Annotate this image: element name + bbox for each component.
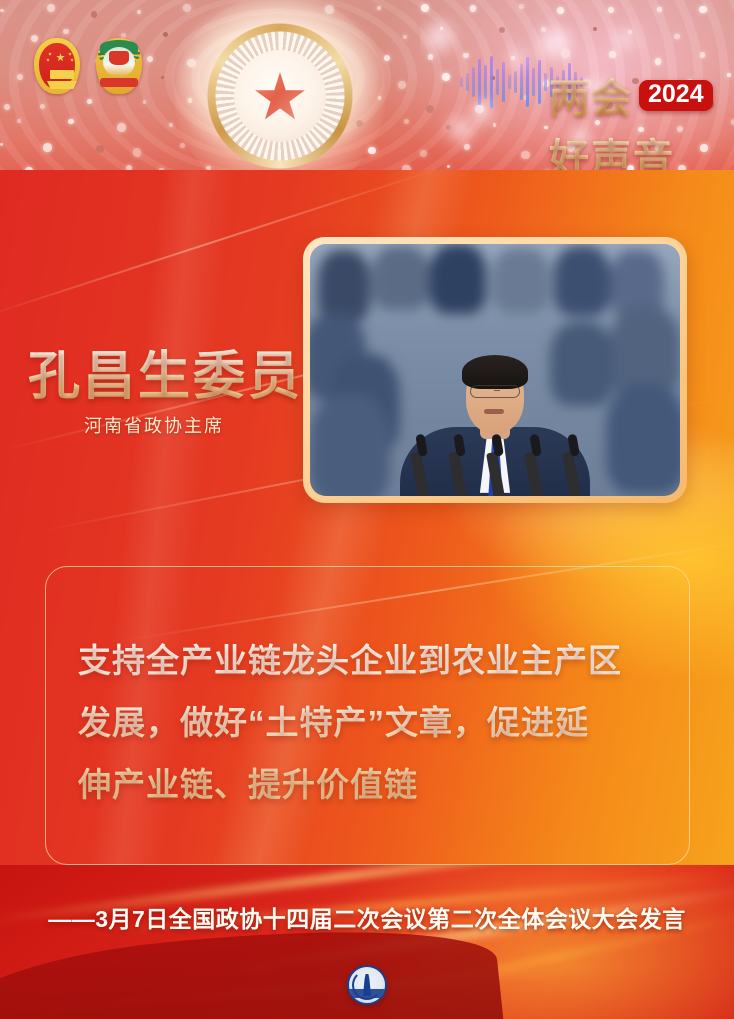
speaker-name: 孔昌生委员 <box>28 334 303 409</box>
news-org-logo-icon <box>347 965 387 1005</box>
speaker-photo <box>310 244 680 496</box>
national-emblem-icon <box>34 38 80 94</box>
great-hall-ceiling-star <box>196 16 364 176</box>
cppcc-emblem-icon <box>96 38 142 94</box>
brand-lockup: 两会 2024 好声音 <box>549 66 713 184</box>
poster-root: 两会 2024 好声音 孔昌生委员 孔昌生委员 河南省政协主席 <box>0 0 734 1019</box>
speaker-photo-frame <box>303 237 687 503</box>
quote-line-3: 伸产业链、提升价值链 <box>78 754 668 816</box>
quote-line-1: 支持全产业链龙头企业到农业主产区 <box>78 630 668 692</box>
speaker-role: 河南省政协主席 <box>84 412 224 438</box>
brand-year-badge: 2024 <box>639 80 713 111</box>
eyeglasses-icon <box>470 385 520 398</box>
quote-line-2: 发展，做好“土特产”文章，促进延 <box>78 692 668 754</box>
footer-caption: ——3月7日全国政协十四届二次会议第二次全体会议大会发言 <box>0 900 734 934</box>
brand-title-line1: 两会 <box>549 66 633 124</box>
quote-text: 支持全产业链龙头企业到农业主产区 发展，做好“土特产”文章，促进延 伸产业链、提… <box>78 630 668 816</box>
